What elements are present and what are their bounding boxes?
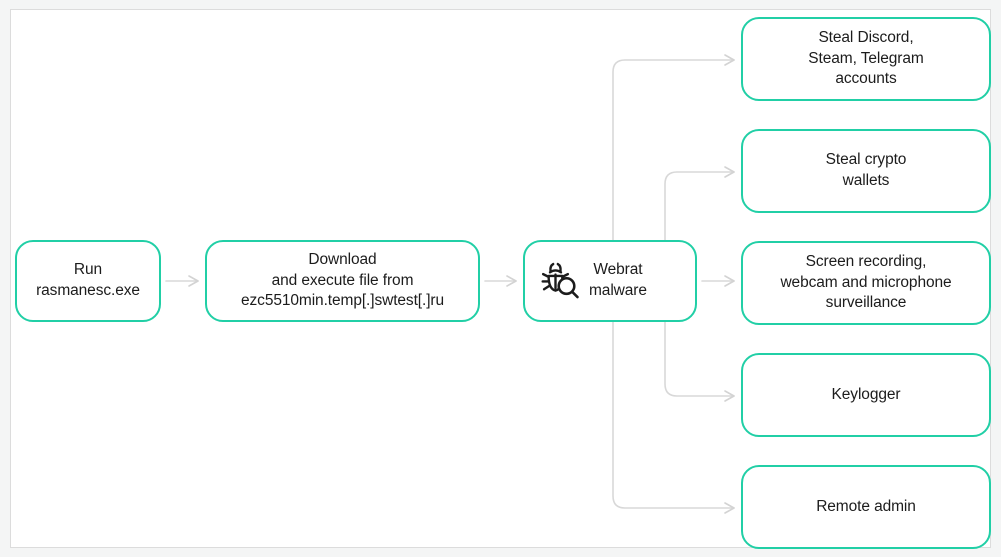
outcome-label: Remote admin bbox=[806, 497, 926, 518]
node-webrat-malware[interactable]: Webrat malware bbox=[523, 240, 697, 322]
diagram-canvas: Run rasmanesc.exe Download and execute f… bbox=[0, 0, 1001, 557]
outcome-keylogger[interactable]: Keylogger bbox=[741, 353, 991, 437]
outcome-steal-crypto-wallets[interactable]: Steal crypto wallets bbox=[741, 129, 991, 213]
node-download-payload[interactable]: Download and execute file from ezc5510mi… bbox=[205, 240, 480, 322]
bug-magnifier-icon bbox=[539, 259, 583, 303]
outcome-label: Screen recording, webcam and microphone … bbox=[770, 252, 961, 314]
node-malware-label: Webrat malware bbox=[589, 260, 647, 302]
outcome-label: Steal Discord, Steam, Telegram accounts bbox=[798, 28, 933, 90]
outcome-label: Steal crypto wallets bbox=[816, 150, 917, 192]
node-download-label: Download and execute file from ezc5510mi… bbox=[231, 250, 454, 312]
outcome-label: Keylogger bbox=[822, 385, 911, 406]
outcome-steal-accounts[interactable]: Steal Discord, Steam, Telegram accounts bbox=[741, 17, 991, 101]
node-run-label: Run rasmanesc.exe bbox=[26, 260, 150, 302]
node-run-executable[interactable]: Run rasmanesc.exe bbox=[15, 240, 161, 322]
outcome-surveillance[interactable]: Screen recording, webcam and microphone … bbox=[741, 241, 991, 325]
outcome-remote-admin[interactable]: Remote admin bbox=[741, 465, 991, 549]
